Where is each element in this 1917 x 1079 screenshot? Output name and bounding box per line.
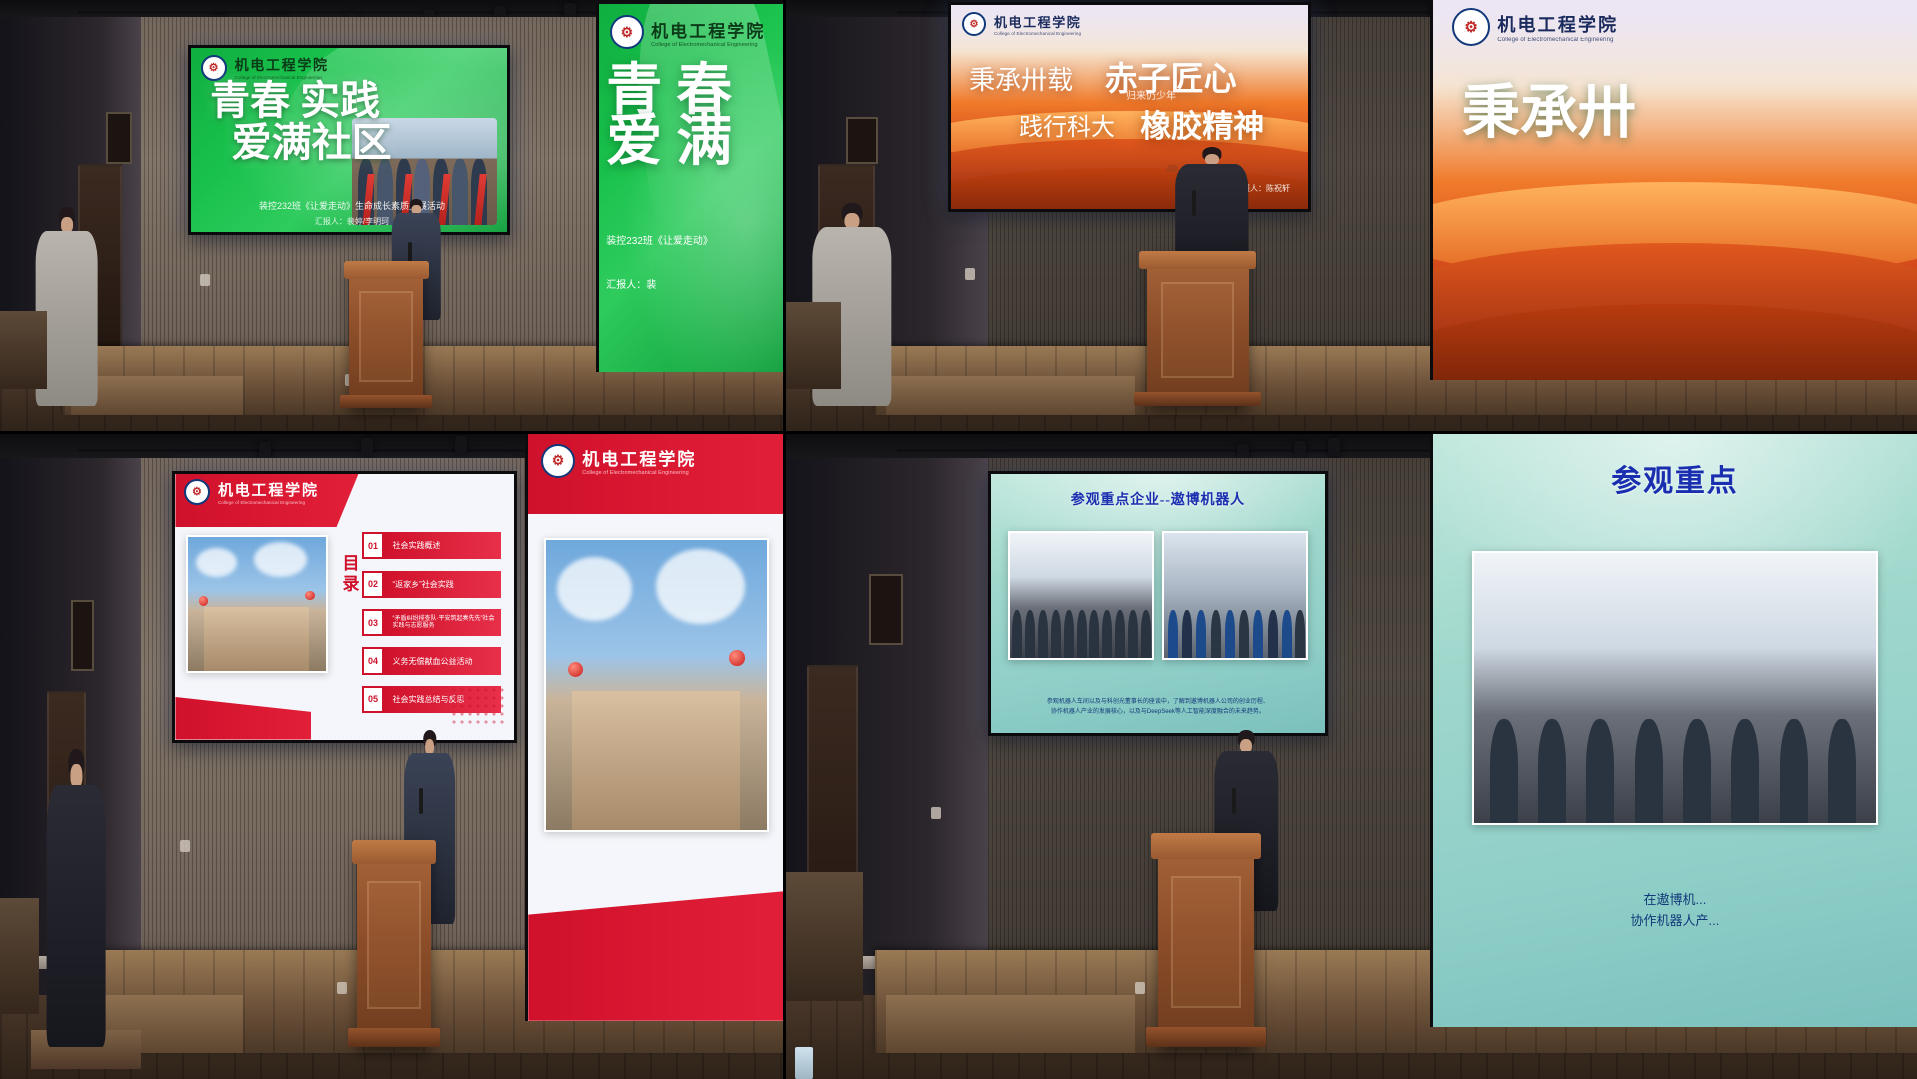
lecture-hall-room: ⚙ 机电工程学院 College of Electromechanical En… — [0, 432, 784, 1079]
podium-top — [1139, 251, 1255, 270]
corridor-tour-photo — [1008, 531, 1155, 661]
building — [204, 607, 309, 671]
spot-light-icon — [1294, 441, 1306, 459]
slide-green-youth-practice: ⚙ 机电工程学院 College of Electromechanical En… — [191, 48, 506, 232]
side-desk — [784, 302, 841, 388]
microphone-icon — [1232, 788, 1236, 814]
podium-front-panel — [1171, 876, 1240, 1008]
college-name-en: College of Electromechanical Engineering — [1497, 37, 1618, 43]
cloud — [557, 557, 632, 621]
side-slide-subtitle: 装控232班《让爱走动》 — [606, 232, 776, 247]
lecture-hall-room: ⚙ 机电工程学院 College of Electromechanical En… — [784, 0, 1917, 432]
side-led-wall-teal[interactable]: 参观重点 在遨博机... 协作机器人产... — [1430, 432, 1917, 1027]
slide-subtitle: 装控232班《让爱走动》生命成长素质拓展活动 — [216, 199, 487, 212]
balloon-icon — [568, 662, 583, 677]
balloon-icon — [729, 650, 744, 665]
podium-base — [1134, 392, 1260, 406]
panel-top-left: ⚙ 机电工程学院 College of Electromechanical En… — [0, 0, 784, 432]
crowd — [1010, 589, 1153, 658]
side-slide-caption: 在遨博机... 协作机器人产... — [1462, 890, 1888, 932]
side-desk — [0, 311, 47, 389]
spot-light-icon — [1328, 438, 1340, 456]
college-name-cn: 机电工程学院 — [651, 17, 765, 42]
college-name-en: College of Electromechanical Engineering — [582, 470, 696, 476]
campus-photo — [544, 538, 769, 832]
toc-number: 01 — [362, 532, 384, 559]
college-name-en: College of Electromechanical Engineering — [651, 42, 765, 48]
college-logo-icon: ⚙ — [184, 479, 210, 505]
slide-header: ⚙ 机电工程学院 College of Electromechanical En… — [175, 474, 514, 510]
side-led-wall-green[interactable]: ⚙ 机电工程学院 College of Electromechanical En… — [596, 4, 784, 371]
toc-text: “返家乡”社会实践 — [384, 571, 501, 598]
power-outlet-icon — [200, 274, 210, 286]
podium — [357, 840, 431, 1047]
slide-orange-craftsman-spirit: ⚙ 机电工程学院 College of Electromechanical En… — [951, 5, 1308, 209]
toc-text: “矛盾纠纷排查队·平安筑起奏先先”社会实践与志愿服务 — [384, 609, 501, 636]
main-led-screen[interactable]: ⚙ 机电工程学院 College of Electromechanical En… — [188, 45, 509, 235]
robot-demo-photo — [1162, 531, 1309, 661]
toc-number: 04 — [362, 647, 384, 674]
toc-row[interactable]: 04 义务无偿献血公益活动 — [362, 647, 501, 674]
slide-caption-line2: 协作机器人产业的发展核心，以及与DeepSeek等人工智能深度融合的未来趋势。 — [1011, 708, 1305, 718]
panel-bottom-left: ⚙ 机电工程学院 College of Electromechanical En… — [0, 432, 784, 1079]
slide-photo-row — [1008, 531, 1309, 661]
corridor-tour-photo — [1472, 551, 1879, 825]
cloud — [196, 548, 238, 578]
main-led-screen[interactable]: ⚙ 机电工程学院 College of Electromechanical En… — [172, 471, 517, 743]
lecture-hall-room: ⚙ 机电工程学院 College of Electromechanical En… — [0, 0, 784, 432]
side-slide-header: ⚙ 机电工程学院 College of Electromechanical En… — [1452, 8, 1618, 46]
grid-seam-horizontal — [0, 431, 1917, 434]
slide-caption: 参观机器人车间以及与科创光董事长的座谈中，了解到遨博机器人公司的创业历程、 协作… — [1011, 698, 1305, 717]
toc-text: 社会实践概述 — [384, 532, 501, 559]
microphone-icon — [419, 788, 423, 814]
toc-number: 02 — [362, 571, 384, 598]
footer-red-block — [175, 697, 311, 740]
side-photo-row — [1472, 551, 1879, 825]
power-outlet-icon — [931, 807, 941, 819]
side-led-wall-orange[interactable]: ⚙ 机电工程学院 College of Electromechanical En… — [1430, 0, 1917, 380]
microphone-icon — [1192, 190, 1196, 216]
college-logo-icon: ⚙ — [1452, 8, 1490, 46]
side-slide-orange: ⚙ 机电工程学院 College of Electromechanical En… — [1433, 0, 1917, 380]
grid-seam-vertical — [783, 0, 786, 1079]
college-logo-icon: ⚙ — [541, 444, 575, 478]
lecture-hall-room: 参观重点企业--遨博机器人 — [784, 432, 1917, 1079]
dune-shape — [1430, 304, 1917, 380]
wall-speaker-box — [846, 117, 878, 165]
bystander-person — [47, 749, 106, 1047]
podium-front-panel — [1161, 282, 1234, 378]
power-outlet-icon — [965, 268, 975, 280]
college-name-cn: 机电工程学院 — [218, 479, 319, 500]
side-slide-title: 参观重点 — [1433, 456, 1917, 500]
spot-light-icon — [455, 436, 467, 454]
side-desk — [784, 872, 863, 1001]
toc-section-label: 目录 — [336, 554, 361, 595]
podium-front-panel — [367, 881, 421, 1009]
panel-bottom-right: 参观重点企业--遨博机器人 — [784, 432, 1917, 1079]
slide-title: 青春 实践 爱满社区 — [210, 80, 450, 164]
slide-header: ⚙ 机电工程学院 College of Electromechanical En… — [951, 5, 1308, 43]
crowd — [1164, 589, 1307, 658]
slide-title-line2: 爱满社区 — [232, 122, 450, 164]
side-led-wall-red[interactable]: ⚙ 机电工程学院 College of Electromechanical En… — [525, 432, 784, 1021]
crowd — [1474, 674, 1877, 822]
footer-red-block — [528, 891, 784, 1021]
podium-top — [352, 840, 437, 865]
slide-small-note: 归来仍少年 — [1126, 87, 1176, 102]
water-bottle-icon — [795, 1047, 813, 1079]
side-desk — [0, 898, 39, 1014]
side-slide-title-line2: 爱 满 — [606, 114, 732, 170]
podium — [1158, 833, 1254, 1047]
slide-title-line1: 秉承卅载 — [969, 60, 1073, 97]
side-slide-presenter: 汇报人：裴 — [606, 276, 776, 291]
college-name-cn: 机电工程学院 — [582, 445, 696, 470]
stage-step — [886, 376, 1135, 415]
power-outlet-icon — [1135, 982, 1145, 994]
torso — [47, 785, 106, 1047]
college-logo-icon: ⚙ — [962, 12, 986, 36]
slide-presenter: 汇报人：裴婷/李明珂 — [216, 216, 487, 227]
college-name-en: College of Electromechanical Engineering — [218, 500, 319, 505]
slide-title-line1: 青春 实践 — [210, 78, 380, 123]
college-name-cn: 机电工程学院 — [235, 55, 329, 75]
wall-speaker-box — [106, 112, 132, 164]
slide-blue-company-visit: 参观重点企业--遨博机器人 — [991, 474, 1325, 733]
main-led-screen[interactable]: ⚙ 机电工程学院 College of Electromechanical En… — [948, 2, 1311, 212]
slide-caption-line1: 参观机器人车间以及与科创光董事长的座谈中，了解到遨博机器人公司的创业历程、 — [1011, 698, 1305, 708]
podium-top — [1151, 833, 1261, 859]
stage-step — [886, 995, 1135, 1053]
side-slide-caption-line2: 协作机器人产... — [1462, 911, 1888, 932]
main-led-screen[interactable]: 参观重点企业--遨博机器人 — [988, 471, 1328, 736]
cloud — [254, 542, 307, 577]
cloud — [656, 549, 744, 624]
panel-top-right: ⚙ 机电工程学院 College of Electromechanical En… — [784, 0, 1917, 432]
building — [572, 691, 740, 830]
dot-pattern — [450, 686, 504, 723]
toc-number: 03 — [362, 609, 384, 636]
podium — [1147, 251, 1249, 407]
side-slide-title-line1: 秉承卅 — [1462, 84, 1636, 142]
side-slide-green: ⚙ 机电工程学院 College of Electromechanical En… — [599, 4, 784, 371]
podium-base — [1146, 1027, 1265, 1046]
photo-grid: ⚙ 机电工程学院 College of Electromechanical En… — [0, 0, 1917, 1079]
slide-title-accent2: 橡胶精神 — [1140, 101, 1264, 146]
side-slide-blue: 参观重点 在遨博机... 协作机器人产... — [1433, 432, 1917, 1027]
toc-number: 05 — [362, 686, 384, 713]
balloon-icon — [305, 591, 315, 601]
toc-row[interactable]: 02 “返家乡”社会实践 — [362, 571, 501, 598]
wall-speaker-box — [869, 574, 903, 645]
spot-light-icon — [361, 438, 373, 456]
slide-title: 参观重点企业--遨博机器人 — [991, 489, 1325, 509]
college-name-en: College of Electromechanical Engineering — [994, 31, 1081, 36]
side-slide-header: ⚙ 机电工程学院 College of Electromechanical En… — [541, 444, 696, 478]
college-logo-icon: ⚙ — [610, 15, 644, 49]
slide-red-table-of-contents: ⚙ 机电工程学院 College of Electromechanical En… — [175, 474, 514, 740]
toc-row[interactable]: 03 “矛盾纠纷排查队·平安筑起奏先先”社会实践与志愿服务 — [362, 609, 501, 636]
podium-base — [340, 395, 432, 408]
campus-photo — [186, 535, 328, 673]
podium — [349, 261, 423, 408]
podium-front-panel — [359, 291, 413, 382]
podium-base — [348, 1028, 440, 1047]
power-outlet-icon — [180, 840, 190, 852]
side-slide-caption-line1: 在遨博机... — [1462, 890, 1888, 911]
balloon-icon — [199, 596, 209, 606]
wall-speaker-box — [71, 600, 95, 671]
toc-text: 义务无偿献血公益活动 — [384, 647, 501, 674]
side-slide-header: ⚙ 机电工程学院 College of Electromechanical En… — [610, 15, 765, 49]
college-name-cn: 机电工程学院 — [1497, 11, 1618, 37]
toc-row[interactable]: 01 社会实践概述 — [362, 532, 501, 559]
side-slide-red: ⚙ 机电工程学院 College of Electromechanical En… — [528, 432, 784, 1021]
slide-title-line2: 践行科大 — [1019, 107, 1115, 142]
podium-top — [344, 261, 429, 279]
college-name-cn: 机电工程学院 — [994, 12, 1081, 31]
power-outlet-icon — [337, 982, 347, 994]
